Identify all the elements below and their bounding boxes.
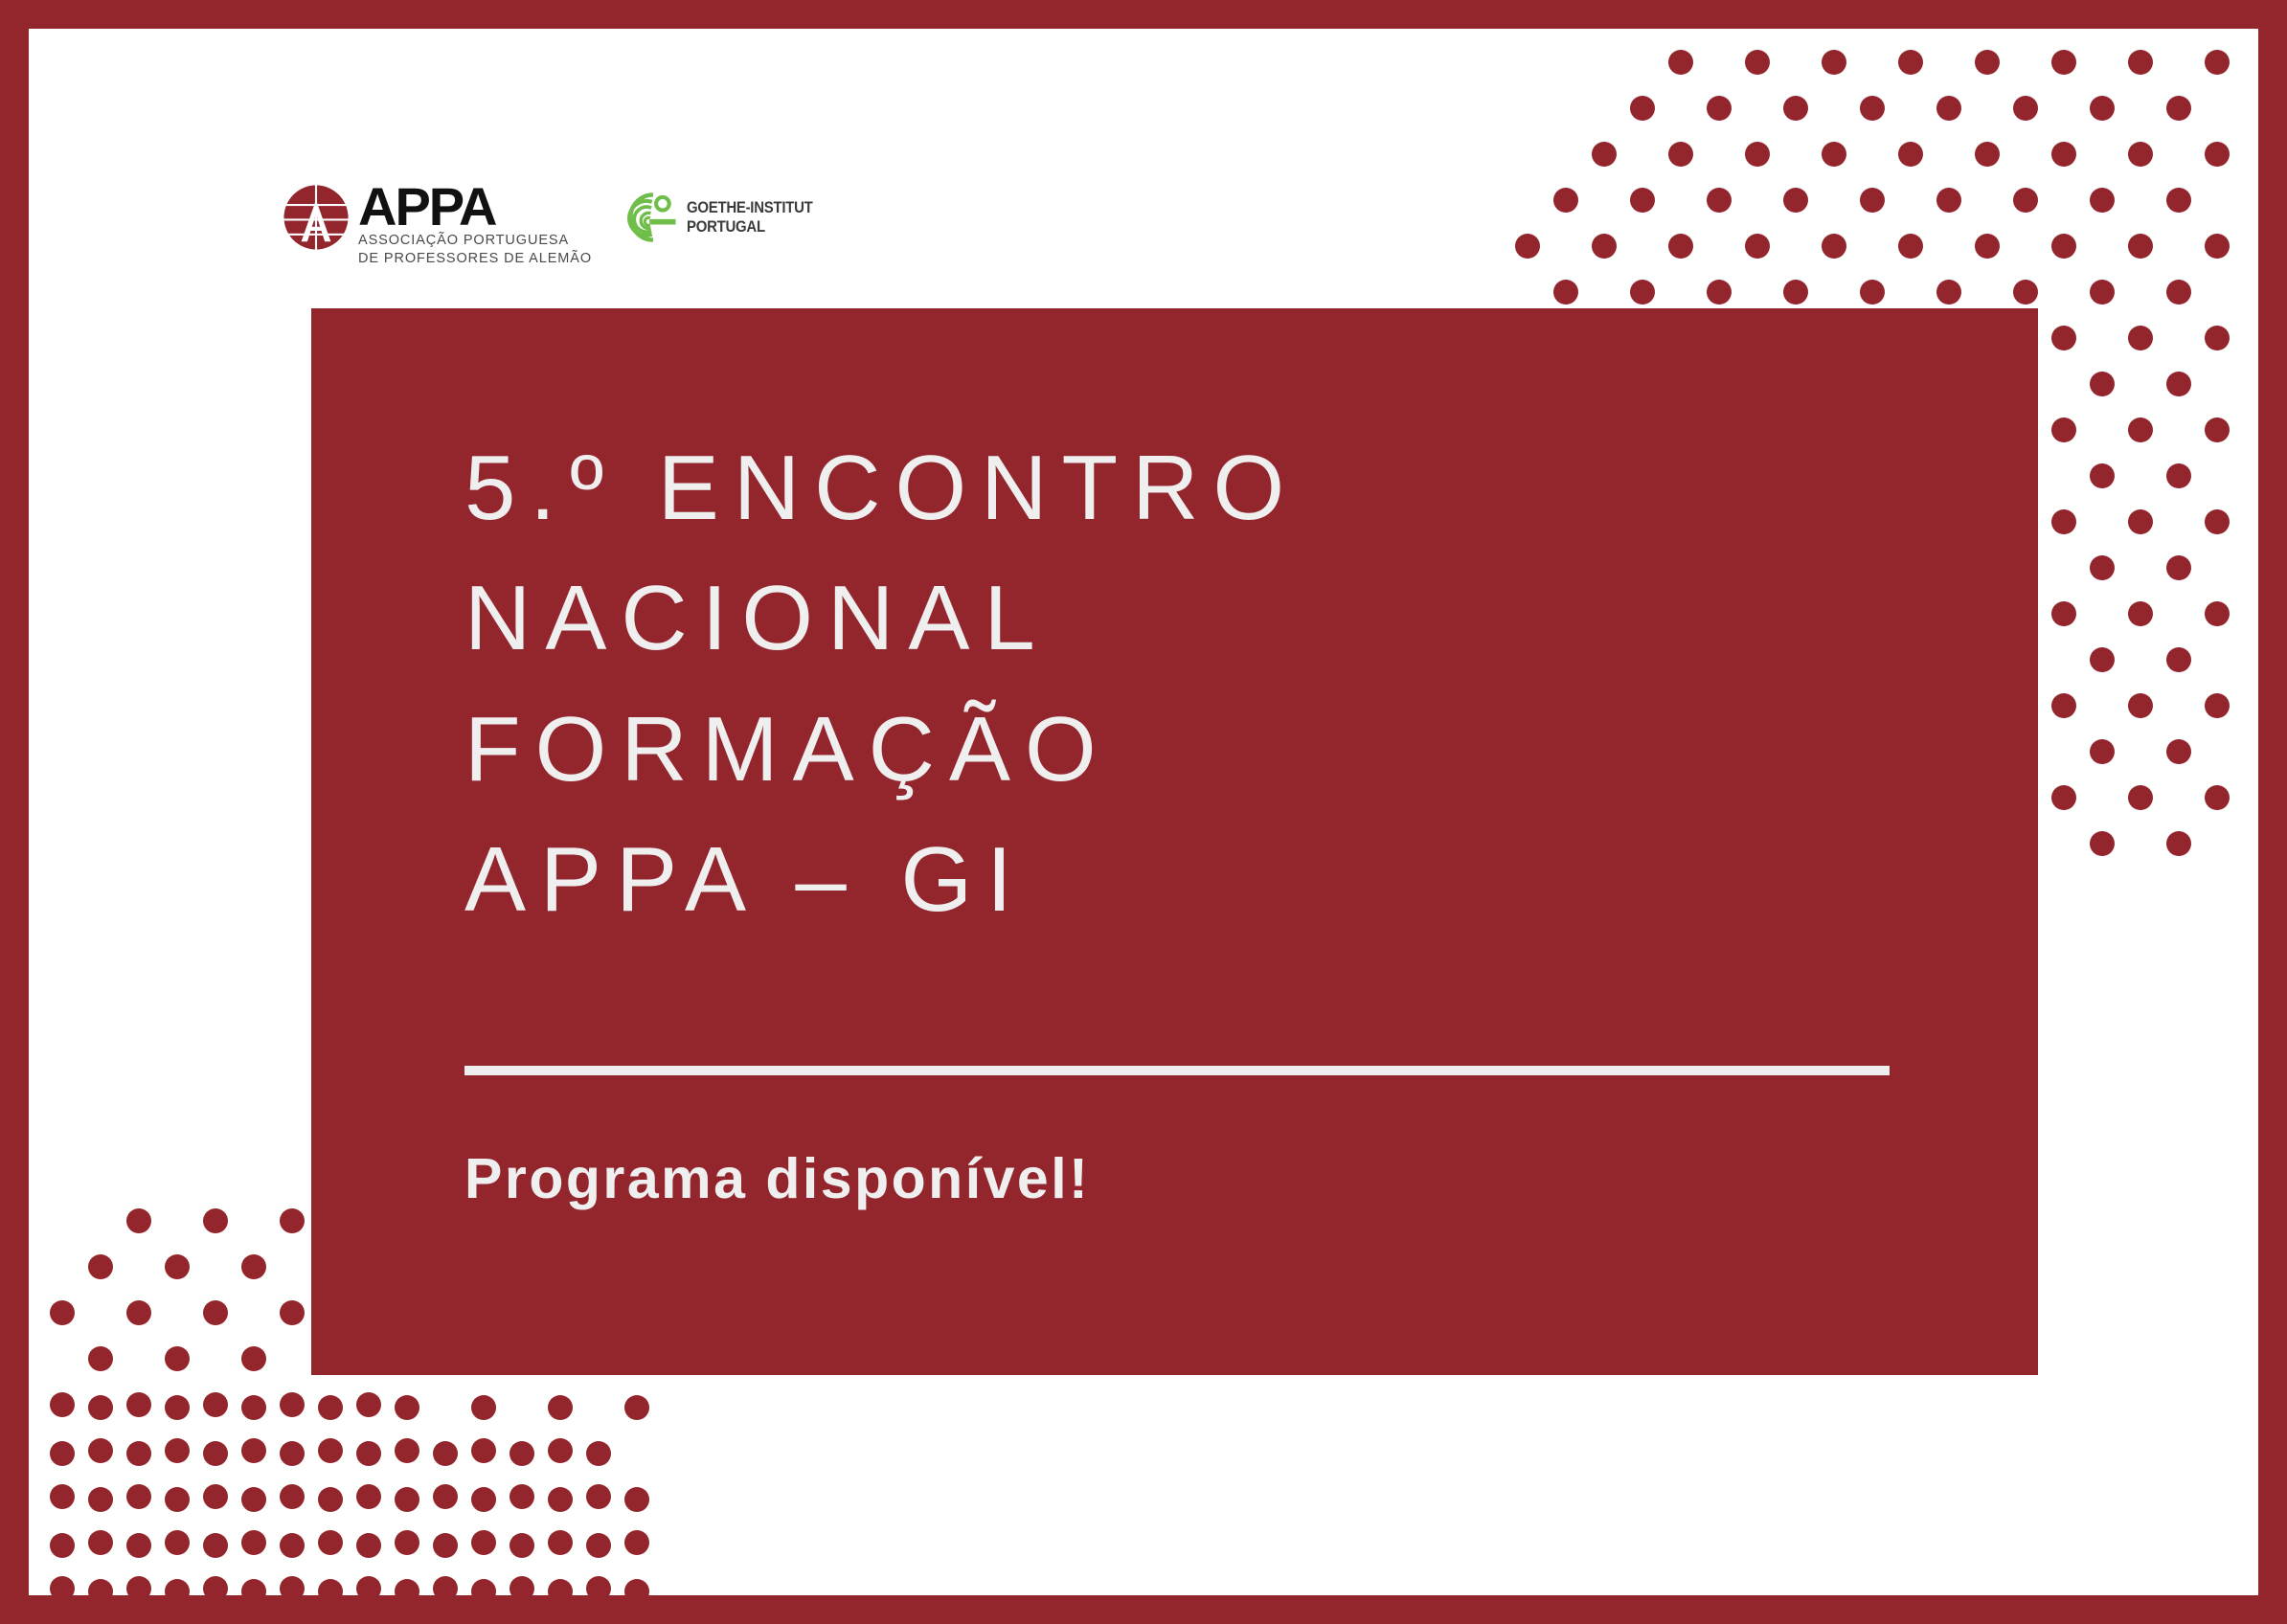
goethe-institut-logo: GOETHE-INSTITUT PORTUGAL <box>619 182 829 247</box>
headline-line-4: APPA – GI <box>464 815 1997 945</box>
appa-wordmark: APPA <box>358 182 592 232</box>
goethe-line2: PORTUGAL <box>687 218 813 236</box>
appa-subtitle-line2: DE PROFESSORES DE ALEMÃO <box>358 250 592 268</box>
headline-block: 5.º ENCONTRO NACIONAL FORMAÇÃO APPA – GI <box>464 423 1997 945</box>
poster-root: APPA ASSOCIAÇÃO PORTUGUESA DE PROFESSORE… <box>0 0 2287 1624</box>
appa-subtitle-line1: ASSOCIAÇÃO PORTUGUESA <box>358 232 592 250</box>
goethe-line1: GOETHE-INSTITUT <box>687 199 813 216</box>
goethe-concentric-mark <box>619 188 678 247</box>
dot-pattern-bottom-left-lower <box>29 1388 699 1595</box>
subtitle-text: Programa disponível! <box>464 1146 1090 1211</box>
main-red-panel: 5.º ENCONTRO NACIONAL FORMAÇÃO APPA – GI… <box>311 308 2038 1375</box>
appa-circle-mark <box>283 184 350 251</box>
poster-canvas: APPA ASSOCIAÇÃO PORTUGUESA DE PROFESSORE… <box>29 29 2258 1595</box>
horizontal-divider <box>464 1066 1890 1075</box>
headline-line-1: 5.º ENCONTRO <box>464 423 1997 553</box>
headline-line-2: NACIONAL <box>464 553 1997 684</box>
headline-line-3: FORMAÇÃO <box>464 685 1997 815</box>
appa-logo: APPA ASSOCIAÇÃO PORTUGUESA DE PROFESSORE… <box>283 182 592 268</box>
logo-bar: APPA ASSOCIAÇÃO PORTUGUESA DE PROFESSORE… <box>283 182 829 268</box>
